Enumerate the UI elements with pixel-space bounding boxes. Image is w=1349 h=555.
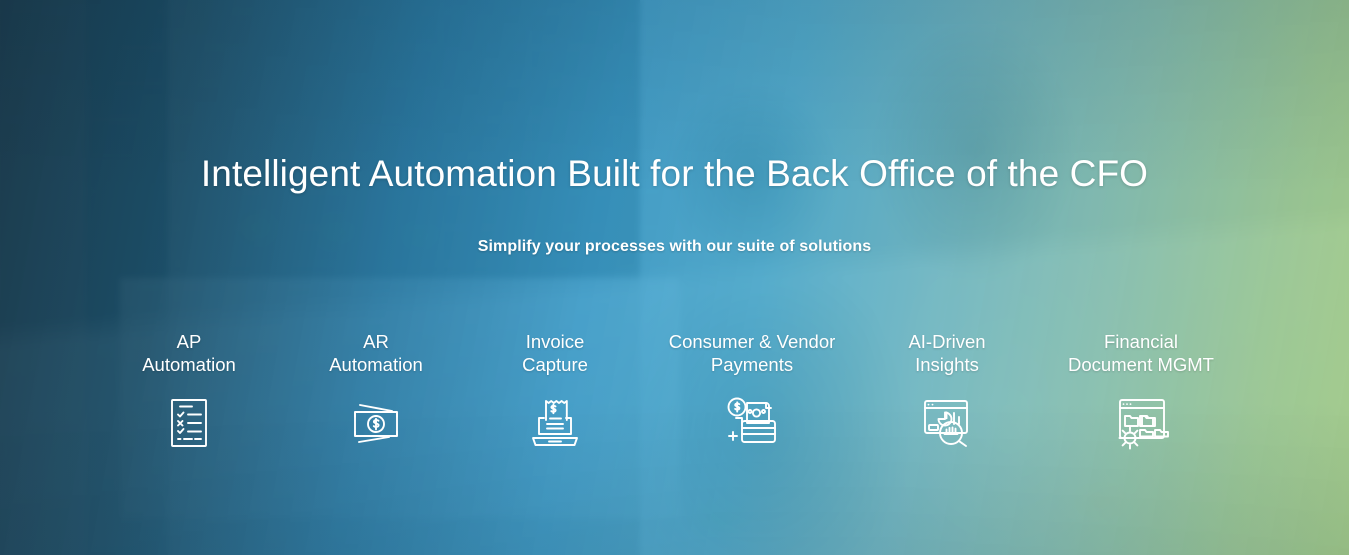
solution-step-6[interactable]: Financial Document MGMT xyxy=(1026,330,1256,376)
solution-step-label: Financial Document MGMT xyxy=(1026,330,1256,376)
page-subtitle: Simplify your processes with our suite o… xyxy=(0,238,1349,256)
laptop-invoice-icon[interactable] xyxy=(526,394,584,452)
hero-content: Intelligent Automation Built for the Bac… xyxy=(0,0,1349,555)
banknotes-dollar-icon[interactable] xyxy=(347,394,405,452)
page-title: Intelligent Automation Built for the Bac… xyxy=(0,153,1349,195)
solution-step-3[interactable]: Invoice Capture xyxy=(440,330,670,376)
hero-banner: Intelligent Automation Built for the Bac… xyxy=(0,0,1349,555)
browser-folders-gear-icon[interactable] xyxy=(1112,394,1170,452)
solutions-timeline: AP Automation AR Automation Invoice Capt… xyxy=(0,330,1349,460)
solution-step-label: Invoice Capture xyxy=(440,330,670,376)
analytics-magnifier-icon[interactable] xyxy=(918,394,976,452)
coin-card-payment-icon[interactable] xyxy=(723,394,781,452)
checklist-document-icon[interactable] xyxy=(160,394,218,452)
